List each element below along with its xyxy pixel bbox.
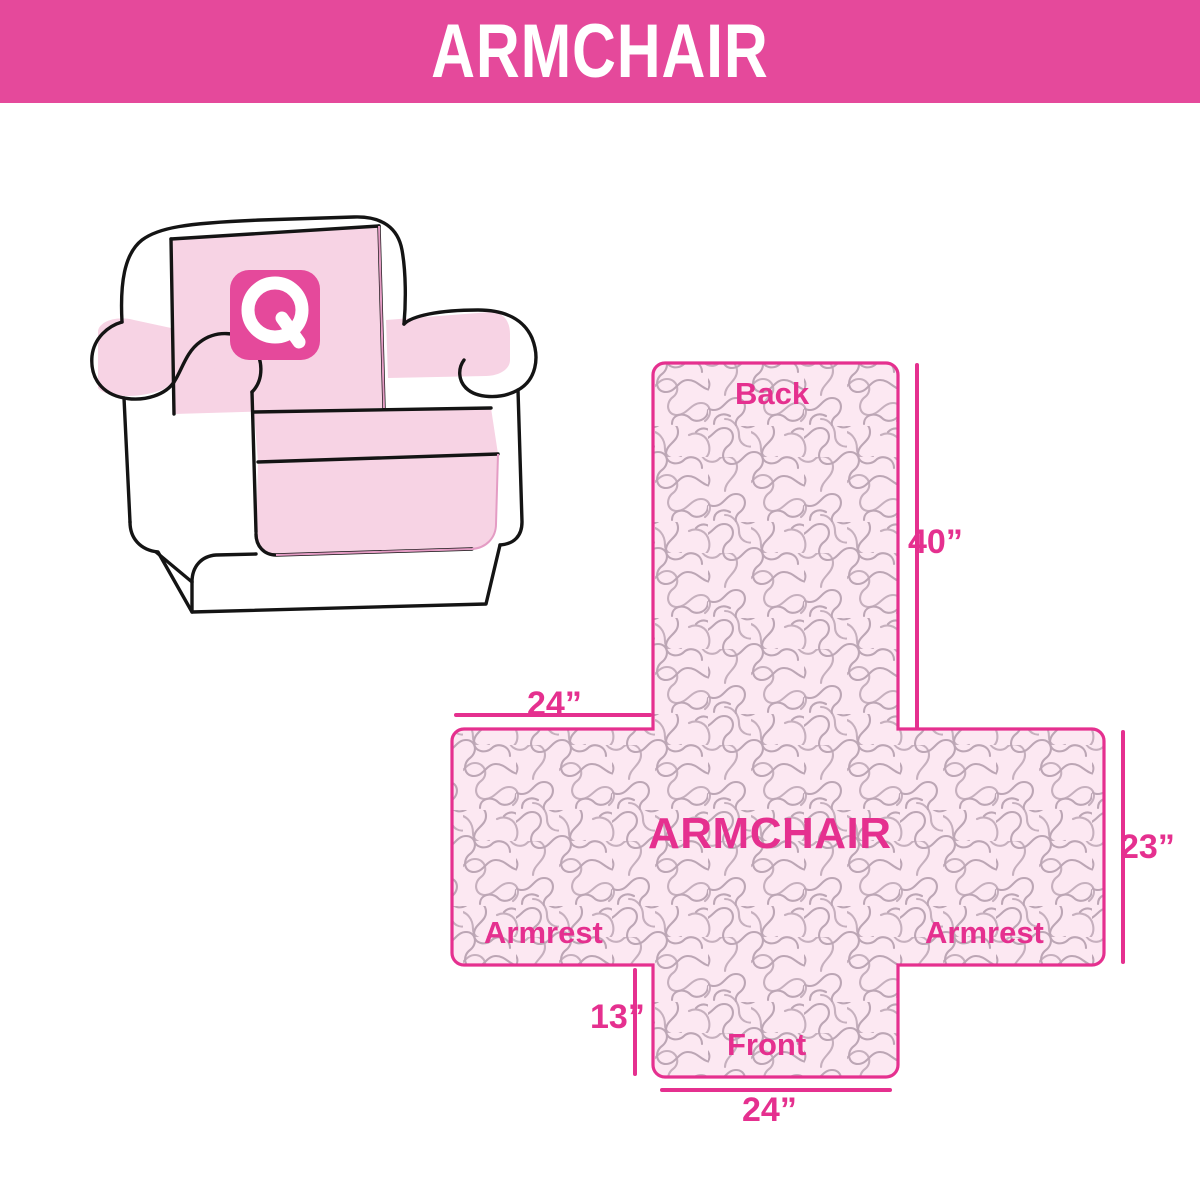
slipcover-pattern-diagram <box>420 330 1200 1130</box>
header-banner: ARMCHAIR <box>0 0 1200 103</box>
panel-label-armrest-left: Armrest <box>484 917 603 948</box>
dimension-label-front-width: 24” <box>742 1093 797 1127</box>
panel-label-armrest-right: Armrest <box>925 917 1044 948</box>
dimension-label-armrest-width: 24” <box>527 687 582 721</box>
panel-label-front: Front <box>727 1029 806 1060</box>
dimension-label-back-height: 40” <box>908 525 963 559</box>
pattern-diagram-svg <box>420 330 1200 1130</box>
dimension-label-center-height: 23” <box>1120 830 1175 864</box>
dimension-label-front-height: 13” <box>590 1000 645 1034</box>
panel-label-back: Back <box>735 378 809 409</box>
page-title: ARMCHAIR <box>431 14 768 90</box>
q-logo-badge <box>230 270 320 360</box>
product-dimensions-infographic: ARMCHAIR <box>0 0 1200 1200</box>
panel-label-center: ARMCHAIR <box>648 812 892 856</box>
